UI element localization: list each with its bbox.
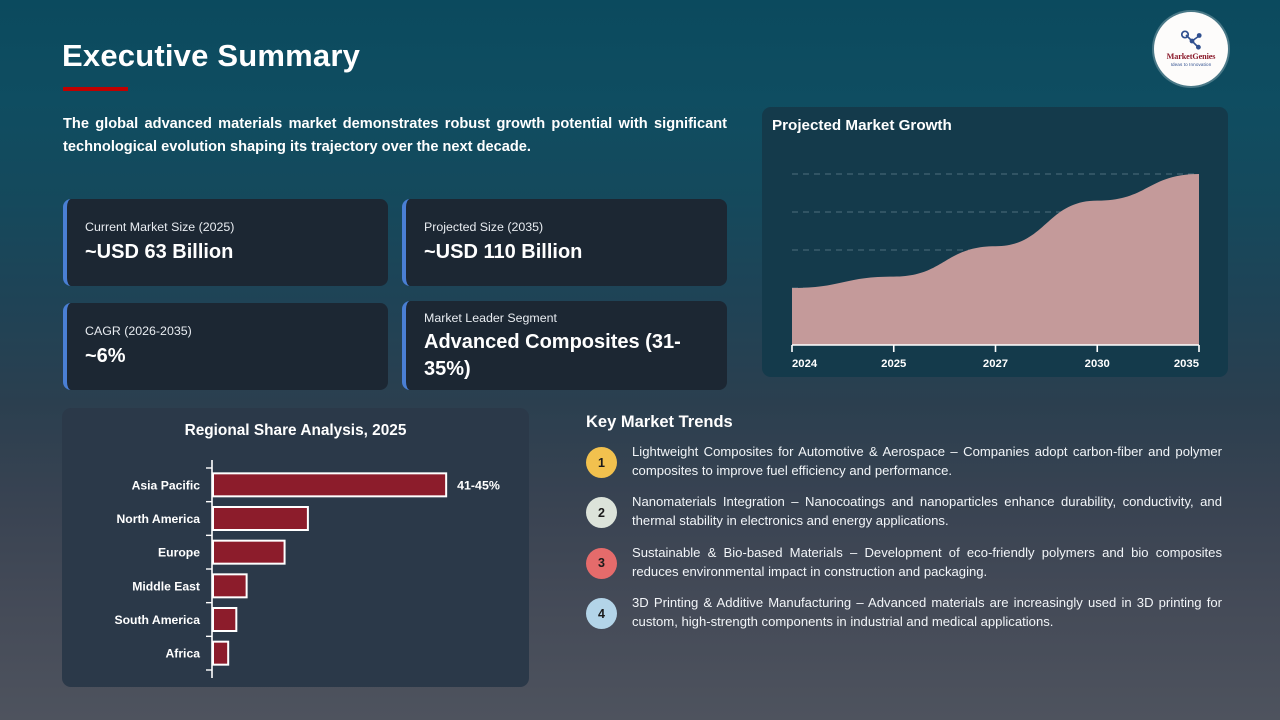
x-tick-label: 2025: [881, 358, 906, 370]
trend-number-badge: 1: [586, 447, 617, 478]
bar: [213, 608, 236, 631]
kpi-value: ~6%: [85, 343, 372, 370]
kpi-label: CAGR (2026-2035): [85, 323, 372, 339]
chart-x-tick-labels: 20242025202720302035: [792, 358, 1199, 370]
trend-text: 3D Printing & Additive Manufacturing – A…: [632, 594, 1226, 631]
trend-text: Lightweight Composites for Automotive & …: [632, 443, 1226, 480]
trend-number-badge: 2: [586, 497, 617, 528]
intro-paragraph: The global advanced materials market dem…: [63, 113, 727, 158]
bar: [213, 473, 446, 496]
kpi-value: Advanced Composites (31-35%): [424, 329, 711, 383]
trend-item: 2Nanomaterials Integration – Nanocoating…: [586, 493, 1226, 530]
category-label: Middle East: [132, 579, 200, 593]
category-label: Africa: [165, 647, 200, 661]
bar: [213, 574, 247, 597]
projected-market-growth-panel: Projected Market Growth 2024202520272030…: [762, 107, 1228, 377]
projected-market-growth-chart: 20242025202720302035: [762, 107, 1228, 377]
bar: [213, 541, 285, 564]
bar: [213, 507, 308, 530]
category-label: South America: [114, 613, 200, 627]
trend-number-badge: 3: [586, 548, 617, 579]
kpi-label: Market Leader Segment: [424, 310, 711, 326]
trends-section-title: Key Market Trends: [586, 413, 733, 432]
chart-axis: [792, 345, 1199, 352]
category-label: Europe: [158, 546, 200, 560]
category-label: North America: [116, 512, 200, 526]
molecule-network-icon: [1178, 30, 1204, 52]
regional-share-analysis-panel: Regional Share Analysis, 2025 Asia Pacif…: [62, 408, 529, 687]
kpi-card-market-leader-segment: Market Leader Segment Advanced Composite…: [402, 301, 727, 390]
x-tick-label: 2035: [1174, 358, 1199, 370]
category-label: Asia Pacific: [132, 478, 201, 492]
logo-tagline: Ideas to Innovation: [1171, 63, 1212, 68]
slide-root: Executive Summary MarketGenies Ideas to …: [0, 0, 1280, 720]
regional-share-analysis-chart: Asia Pacific41-45%North AmericaEuropeMid…: [62, 408, 529, 687]
trend-number-badge: 4: [586, 598, 617, 629]
kpi-card-current-market-size: Current Market Size (2025) ~USD 63 Billi…: [63, 199, 388, 286]
logo-name: MarketGenies: [1167, 53, 1216, 61]
trend-item: 3Sustainable & Bio-based Materials – Dev…: [586, 544, 1226, 581]
kpi-label: Projected Size (2035): [424, 219, 711, 235]
trend-item: 1Lightweight Composites for Automotive &…: [586, 443, 1226, 480]
chart-axis: [206, 460, 212, 678]
trend-text: Sustainable & Bio-based Materials – Deve…: [632, 544, 1226, 581]
x-tick-label: 2024: [792, 358, 818, 370]
x-tick-label: 2030: [1085, 358, 1110, 370]
bar-value-label: 41-45%: [457, 478, 500, 492]
chart-category-labels: Asia Pacific41-45%North AmericaEuropeMid…: [114, 478, 499, 660]
brand-logo: MarketGenies Ideas to Innovation: [1154, 12, 1228, 86]
x-tick-label: 2027: [983, 358, 1008, 370]
trend-item: 43D Printing & Additive Manufacturing – …: [586, 594, 1226, 631]
area-series: [792, 174, 1199, 345]
page-title: Executive Summary: [62, 38, 360, 74]
title-underline: [63, 87, 128, 91]
kpi-label: Current Market Size (2025): [85, 219, 372, 235]
kpi-card-projected-size: Projected Size (2035) ~USD 110 Billion: [402, 199, 727, 286]
trend-text: Nanomaterials Integration – Nanocoatings…: [632, 493, 1226, 530]
kpi-card-cagr: CAGR (2026-2035) ~6%: [63, 303, 388, 390]
kpi-value: ~USD 63 Billion: [85, 239, 372, 266]
bar: [213, 642, 228, 665]
trends-list: 1Lightweight Composites for Automotive &…: [586, 443, 1226, 645]
bar-series: [213, 473, 446, 664]
kpi-value: ~USD 110 Billion: [424, 239, 711, 266]
